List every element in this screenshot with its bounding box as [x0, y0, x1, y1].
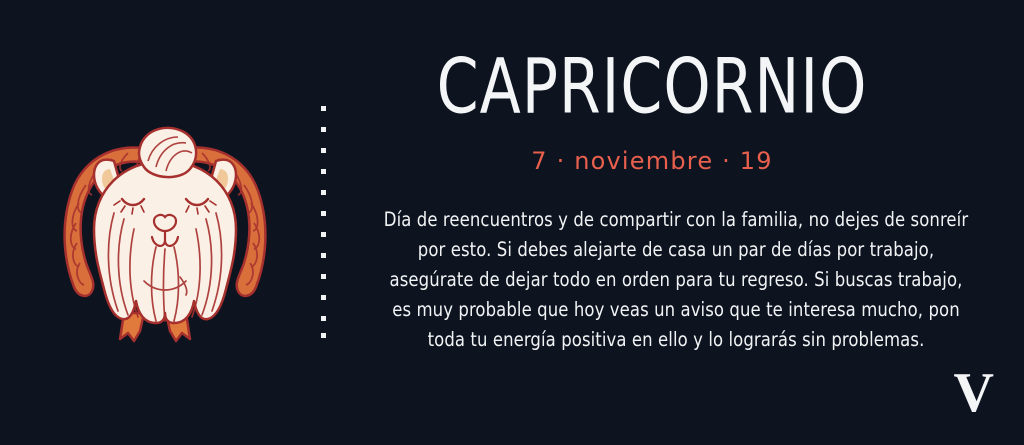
horoscope-card: CAPRICORNIO 7 · noviembre · 19 Día de re…: [0, 0, 1024, 445]
divider-dot: [321, 232, 326, 237]
divider-dot: [321, 127, 326, 132]
sign-title: CAPRICORNIO: [361, 44, 943, 129]
divider-dot: [321, 316, 326, 321]
horoscope-line: es muy probable que hoy veas un aviso qu…: [375, 295, 977, 325]
horoscope-content: CAPRICORNIO 7 · noviembre · 19 Día de re…: [352, 0, 1012, 445]
divider-dot: [321, 333, 326, 338]
divider-dot: [321, 106, 326, 111]
divider-dot: [321, 169, 326, 174]
divider-dot: [321, 190, 326, 195]
date-line: 7 · noviembre · 19: [352, 147, 952, 175]
horoscope-line: toda tu energía positiva en ello y lo lo…: [375, 325, 977, 355]
divider-dot: [321, 253, 326, 258]
divider-dot: [321, 148, 326, 153]
capricorn-goat-illustration: [40, 95, 290, 350]
divider-dot: [321, 274, 326, 279]
horoscope-line: Día de reencuentros y de compartir con l…: [375, 205, 977, 235]
horoscope-line: asegúrate de dejar todo en orden para tu…: [375, 265, 977, 295]
horoscope-line: por esto. Si debes alejarte de casa un p…: [375, 235, 977, 265]
divider-dot: [321, 295, 326, 300]
dotted-divider: [321, 106, 327, 338]
brand-logo-v: V: [954, 365, 994, 421]
divider-dot: [321, 211, 326, 216]
horoscope-text: Día de reencuentros y de compartir con l…: [356, 205, 996, 355]
